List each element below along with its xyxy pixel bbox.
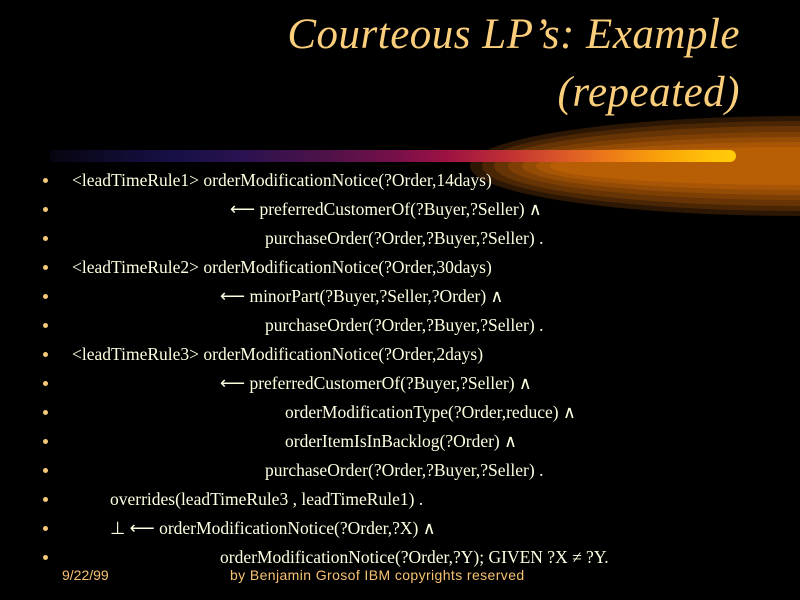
bullet-row: ⟵ preferredCustomerOf(?Buyer,?Seller) ∧ [0, 369, 800, 398]
bullet-row: purchaseOrder(?Order,?Buyer,?Seller) . [0, 311, 800, 340]
bullet-text: ⊥ ⟵ orderModificationNotice(?Order,?X) ∧ [40, 514, 620, 543]
bullet-text: purchaseOrder(?Order,?Buyer,?Seller) . [40, 456, 620, 485]
bullet-dot-icon [43, 207, 48, 212]
bullet-text: ⟵ preferredCustomerOf(?Buyer,?Seller) ∧ [40, 195, 620, 224]
bullet-dot-icon [43, 294, 48, 299]
bullet-dot-icon [43, 439, 48, 444]
bullet-text: ⟵ minorPart(?Buyer,?Seller,?Order) ∧ [40, 282, 620, 311]
bullet-text: purchaseOrder(?Order,?Buyer,?Seller) . [40, 224, 620, 253]
bullet-dot-icon [43, 323, 48, 328]
bullet-text: <leadTimeRule2> orderModificationNotice(… [40, 253, 620, 282]
bullet-row: ⊥ ⟵ orderModificationNotice(?Order,?X) ∧ [0, 514, 800, 543]
bullet-dot-icon [43, 555, 48, 560]
bullet-dot-icon [43, 381, 48, 386]
bullet-row: <leadTimeRule3> orderModificationNotice(… [0, 340, 800, 369]
bullet-text: <leadTimeRule1> orderModificationNotice(… [40, 166, 620, 195]
bullet-text: overrides(leadTimeRule3 , leadTimeRule1)… [40, 485, 620, 514]
bullet-dot-icon [43, 265, 48, 270]
bullet-list: <leadTimeRule1> orderModificationNotice(… [0, 166, 800, 572]
bullet-row: purchaseOrder(?Order,?Buyer,?Seller) . [0, 456, 800, 485]
bullet-text: orderItemIsInBacklog(?Order) ∧ [40, 427, 620, 456]
bullet-text: orderModificationType(?Order,reduce) ∧ [40, 398, 620, 427]
slide-footer: 9/22/99 by Benjamin Grosof IBM copyright… [0, 563, 800, 587]
bullet-row: orderModificationType(?Order,reduce) ∧ [0, 398, 800, 427]
bullet-dot-icon [43, 497, 48, 502]
bullet-text: <leadTimeRule3> orderModificationNotice(… [40, 340, 620, 369]
bullet-row: <leadTimeRule2> orderModificationNotice(… [0, 253, 800, 282]
bullet-row: purchaseOrder(?Order,?Buyer,?Seller) . [0, 224, 800, 253]
bullet-dot-icon [43, 526, 48, 531]
bullet-text: purchaseOrder(?Order,?Buyer,?Seller) . [40, 311, 620, 340]
bullet-row: ⟵ preferredCustomerOf(?Buyer,?Seller) ∧ [0, 195, 800, 224]
gradient-accent-bar [50, 150, 736, 162]
bullet-dot-icon [43, 468, 48, 473]
bullet-dot-icon [43, 410, 48, 415]
footer-date: 9/22/99 [62, 565, 109, 585]
bullet-row: orderItemIsInBacklog(?Order) ∧ [0, 427, 800, 456]
presentation-slide: Courteous LP’s: Example (repeated) <lead… [0, 0, 800, 600]
bullet-row: ⟵ minorPart(?Buyer,?Seller,?Order) ∧ [0, 282, 800, 311]
slide-title: Courteous LP’s: Example (repeated) [60, 6, 740, 122]
bullet-text: ⟵ preferredCustomerOf(?Buyer,?Seller) ∧ [40, 369, 620, 398]
title-line-1: Courteous LP’s: Example [60, 6, 740, 64]
bullet-row: <leadTimeRule1> orderModificationNotice(… [0, 166, 800, 195]
bullet-dot-icon [43, 236, 48, 241]
footer-credit: by Benjamin Grosof IBM copyrights reserv… [230, 565, 525, 585]
bullet-dot-icon [43, 352, 48, 357]
title-line-2: (repeated) [60, 64, 740, 122]
bullet-dot-icon [43, 178, 48, 183]
bullet-row: overrides(leadTimeRule3 , leadTimeRule1)… [0, 485, 800, 514]
